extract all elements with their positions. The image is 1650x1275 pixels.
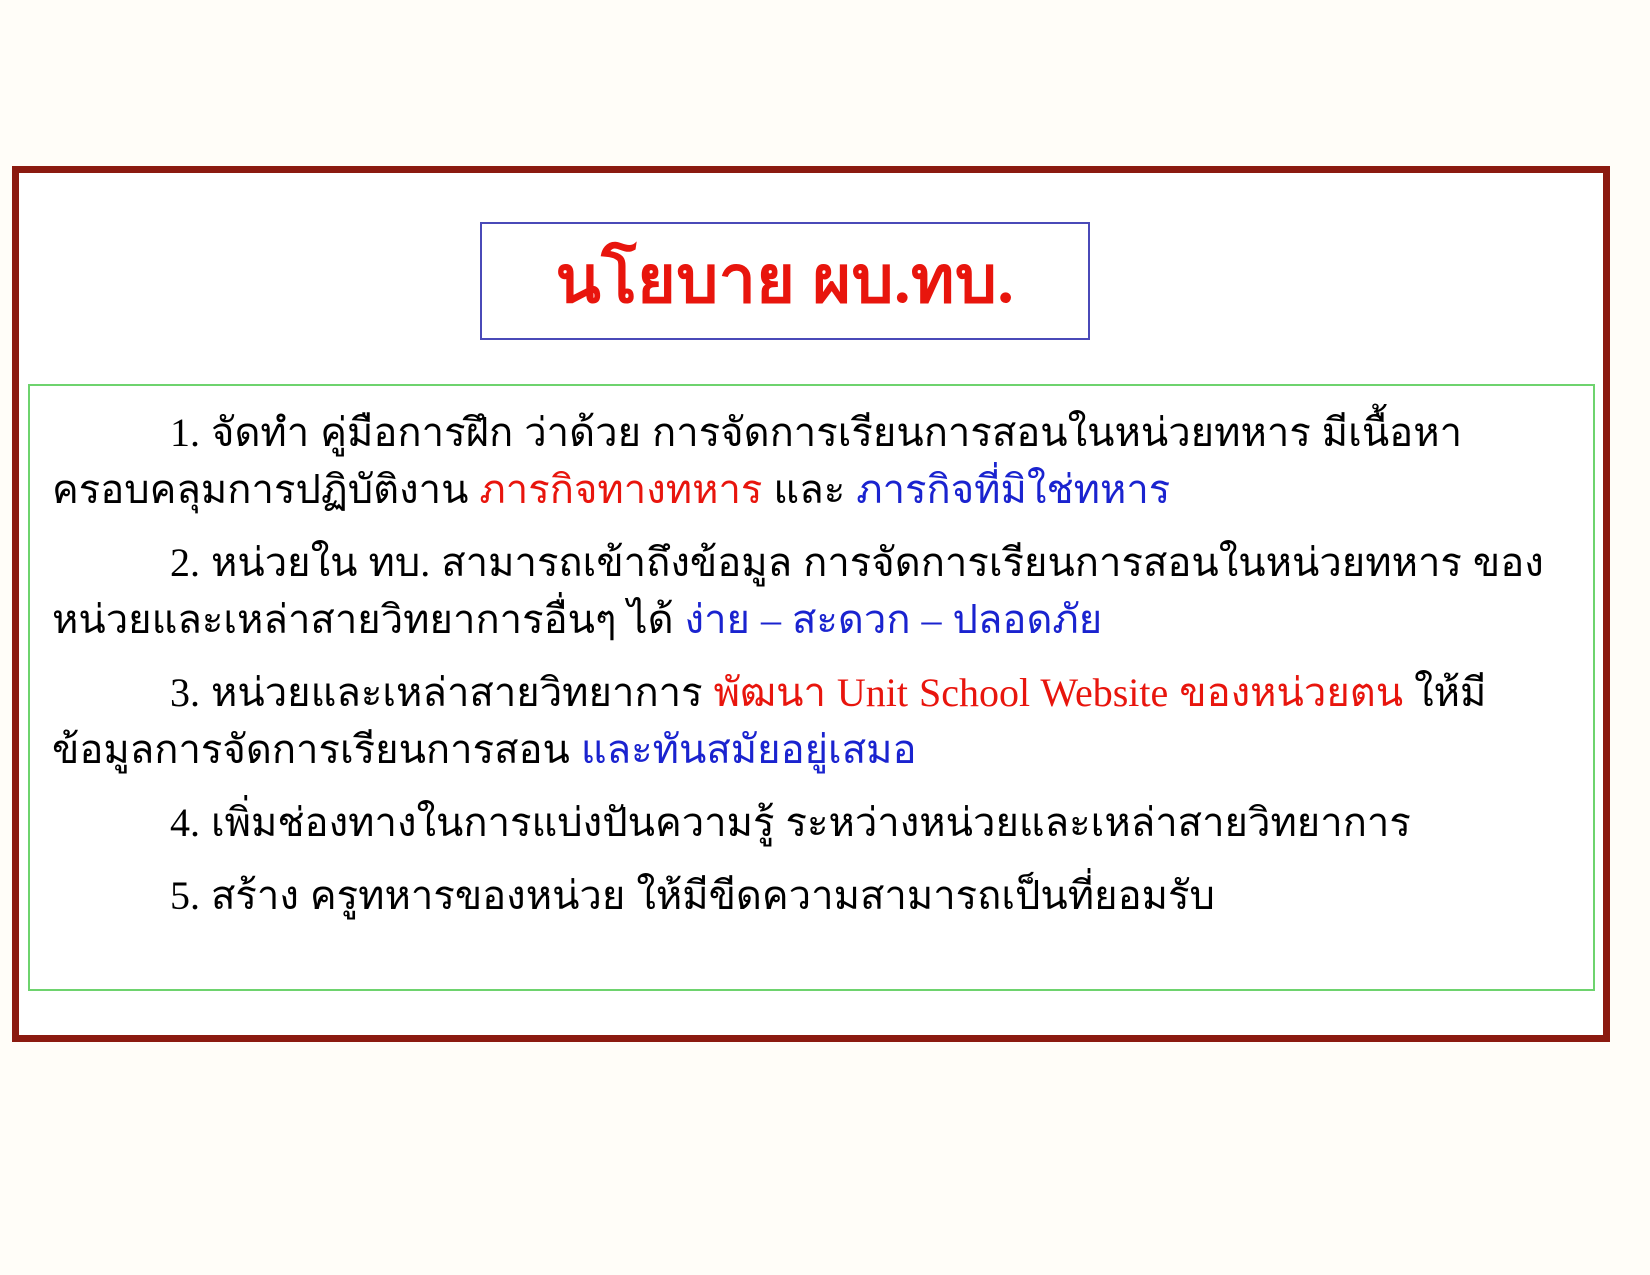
policy-item-4: 4. เพิ่มช่องทางในการแบ่งปันความรู้ ระหว่…	[52, 794, 1571, 851]
slide-canvas: นโยบาย ผบ.ทบ. 1. จัดทำ คู่มือการฝึก ว่าด…	[0, 0, 1650, 1275]
policy-item-number: 4.	[170, 800, 200, 845]
policy-item-text-blue: ภารกิจที่มิใช่ทหาร	[856, 467, 1170, 512]
policy-item-1: 1. จัดทำ คู่มือการฝึก ว่าด้วย การจัดการเ…	[52, 404, 1571, 518]
policy-item-2: 2. หน่วยใน ทบ. สามารถเข้าถึงข้อมูล การจั…	[52, 534, 1571, 648]
page-title: นโยบาย ผบ.ทบ.	[556, 248, 1015, 314]
policy-item-text-black: และ	[762, 467, 856, 512]
policy-item-text-black: เพิ่มช่องทางในการแบ่งปันความรู้ ระหว่างห…	[200, 800, 1411, 845]
policy-list-container: 1. จัดทำ คู่มือการฝึก ว่าด้วย การจัดการเ…	[28, 384, 1595, 991]
policy-item-text-blue: และทันสมัยอยู่เสมอ	[581, 727, 917, 772]
policy-item-number: 3.	[170, 670, 200, 715]
policy-item-text-red: พัฒนา Unit School Website ของหน่วยตน	[714, 670, 1404, 715]
policy-item-number: 1.	[170, 410, 200, 455]
policy-item-text-red: ภารกิจทางทหาร	[479, 467, 762, 512]
policy-item-number: 5.	[170, 873, 200, 918]
policy-item-3: 3. หน่วยและเหล่าสายวิทยาการ พัฒนา Unit S…	[52, 664, 1571, 778]
policy-item-text-black: หน่วยและเหล่าสายวิทยาการ	[200, 670, 714, 715]
policy-item-5: 5. สร้าง ครูทหารของหน่วย ให้มีขีดความสาม…	[52, 867, 1571, 924]
policy-item-text-blue: ง่าย – สะดวก – ปลอดภัย	[685, 597, 1103, 642]
policy-item-text-black: สร้าง ครูทหารของหน่วย ให้มีขีดความสามารถ…	[200, 873, 1215, 918]
policy-item-number: 2.	[170, 540, 200, 585]
title-box: นโยบาย ผบ.ทบ.	[480, 222, 1090, 340]
